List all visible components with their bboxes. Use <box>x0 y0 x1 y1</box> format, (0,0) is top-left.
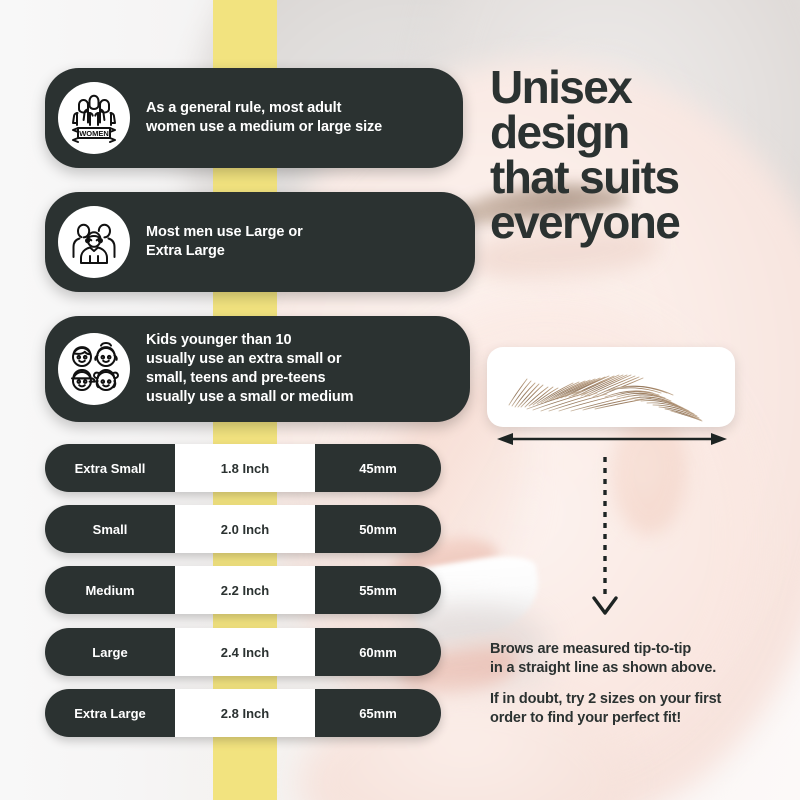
double-headed-arrow-icon <box>497 432 727 446</box>
headline-line-3: that suits <box>490 155 790 200</box>
info-card-men-text: Most men use Large or Extra Large <box>146 223 319 261</box>
table-row: Small 2.0 Inch 50mm <box>45 505 441 553</box>
size-name: Medium <box>45 566 175 614</box>
men-group-icon <box>58 206 130 278</box>
content-layer: WOMEN As a general rule, most adult wome… <box>0 0 800 800</box>
info-card-men-line-1: Most men use Large or <box>146 223 303 242</box>
info-card-kids-line-2: usually use an extra small or <box>146 350 353 369</box>
info-card-women-line-2: women use a medium or large size <box>146 118 382 137</box>
kids-group-icon <box>58 333 130 405</box>
info-card-women-text: As a general rule, most adult women use … <box>146 99 398 137</box>
size-inch: 2.8 Inch <box>175 689 315 737</box>
headline-line-4: everyone <box>490 200 790 245</box>
size-name: Large <box>45 628 175 676</box>
size-inch: 2.4 Inch <box>175 628 315 676</box>
svg-text:WOMEN: WOMEN <box>79 129 109 138</box>
size-inch: 2.2 Inch <box>175 566 315 614</box>
size-mm: 65mm <box>315 689 441 737</box>
sizing-tip-line-2: order to find your perfect fit! <box>490 709 790 728</box>
size-name: Extra Small <box>45 444 175 492</box>
table-row: Extra Large 2.8 Inch 65mm <box>45 689 441 737</box>
page-title: Unisex design that suits everyone <box>490 65 790 245</box>
women-group-icon: WOMEN <box>58 82 130 154</box>
info-card-women: WOMEN As a general rule, most adult wome… <box>45 68 463 168</box>
measure-note-line-2: in a straight line as shown above. <box>490 659 780 678</box>
eyebrow-photo <box>487 347 735 427</box>
info-card-kids-text: Kids younger than 10 usually use an extr… <box>146 331 369 408</box>
headline-line-1: Unisex <box>490 65 790 110</box>
info-card-women-line-1: As a general rule, most adult <box>146 99 382 118</box>
infographic-canvas: WOMEN As a general rule, most adult wome… <box>0 0 800 800</box>
dashed-down-arrow-icon <box>585 455 625 620</box>
info-card-kids-line-3: small, teens and pre-teens <box>146 369 353 388</box>
measure-note-line-1: Brows are measured tip-to-tip <box>490 640 780 659</box>
info-card-kids-line-4: usually use a small or medium <box>146 388 353 407</box>
info-card-men: Most men use Large or Extra Large <box>45 192 475 292</box>
table-row: Medium 2.2 Inch 55mm <box>45 566 441 614</box>
table-row: Extra Small 1.8 Inch 45mm <box>45 444 441 492</box>
size-mm: 50mm <box>315 505 441 553</box>
headline-line-2: design <box>490 110 790 155</box>
size-mm: 45mm <box>315 444 441 492</box>
size-inch: 1.8 Inch <box>175 444 315 492</box>
table-row: Large 2.4 Inch 60mm <box>45 628 441 676</box>
size-name: Extra Large <box>45 689 175 737</box>
info-card-men-line-2: Extra Large <box>146 242 303 261</box>
sizing-tip: If in doubt, try 2 sizes on your first o… <box>490 690 790 728</box>
size-name: Small <box>45 505 175 553</box>
size-inch: 2.0 Inch <box>175 505 315 553</box>
size-mm: 55mm <box>315 566 441 614</box>
sizing-tip-line-1: If in doubt, try 2 sizes on your first <box>490 690 790 709</box>
measure-note: Brows are measured tip-to-tip in a strai… <box>490 640 780 678</box>
info-card-kids: Kids younger than 10 usually use an extr… <box>45 316 470 422</box>
size-mm: 60mm <box>315 628 441 676</box>
info-card-kids-line-1: Kids younger than 10 <box>146 331 353 350</box>
